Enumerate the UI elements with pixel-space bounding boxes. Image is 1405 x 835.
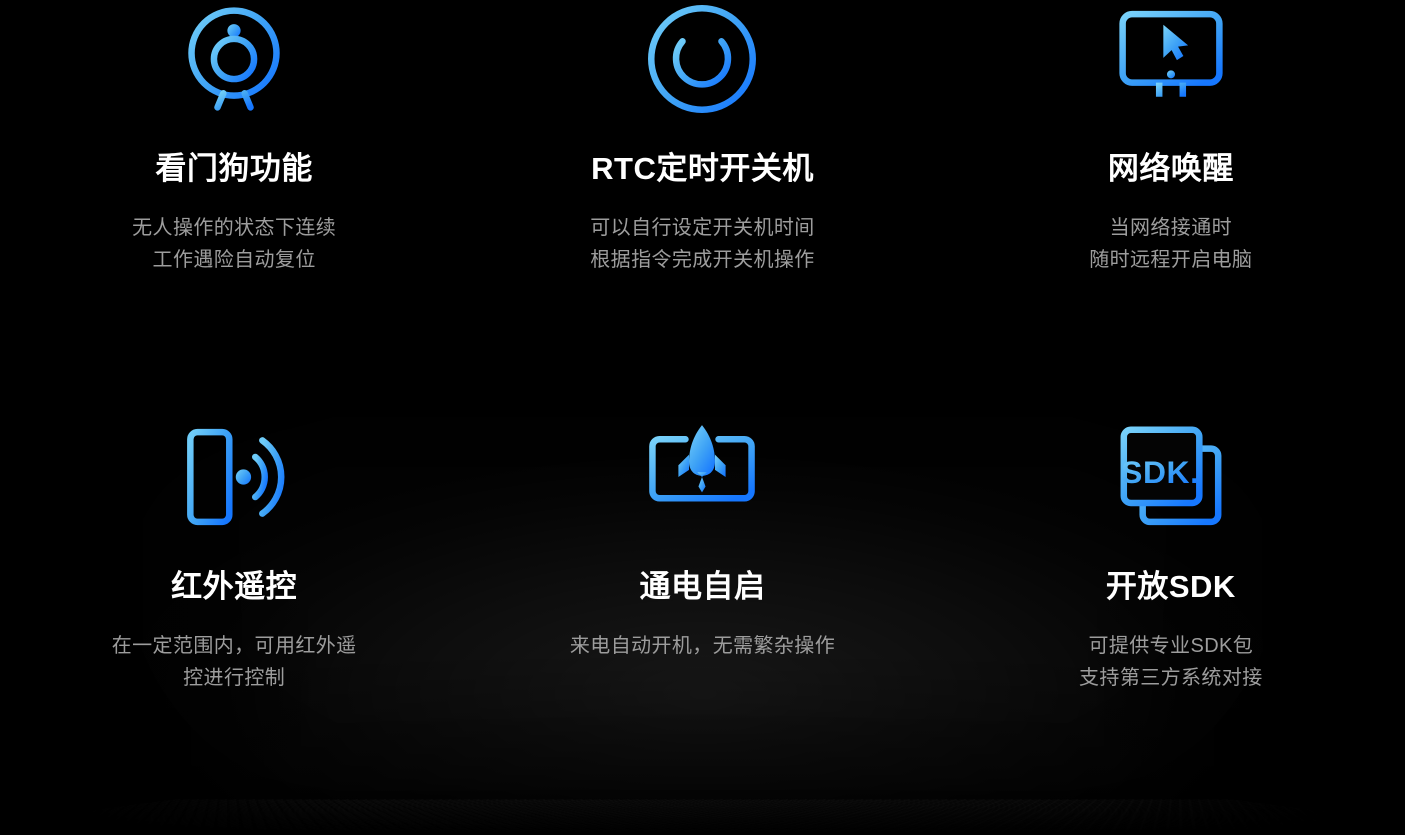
feature-description: 来电自动开机，无需繁杂操作	[570, 630, 835, 662]
feature-title: 红外遥控	[171, 570, 297, 604]
sdk-icon-label: SDK.	[1121, 454, 1199, 490]
feature-title: RTC定时开关机	[591, 152, 814, 186]
feature-description: 无人操作的状态下连续 工作遇险自动复位	[132, 212, 336, 277]
feature-card-rtc-timer[interactable]: RTC定时开关机 可以自行设定开关机时间 根据指令完成开关机操作	[468, 0, 936, 418]
feature-description-line: 支持第三方系统对接	[1079, 662, 1263, 694]
feature-description-line: 来电自动开机，无需繁杂操作	[570, 630, 835, 662]
feature-title: 开放SDK	[1106, 570, 1236, 604]
feature-grid: 看门狗功能 无人操作的状态下连续 工作遇险自动复位 RTC定时开关机 可以自行设…	[0, 0, 1405, 835]
feature-description-line: 当网络接通时	[1089, 212, 1252, 244]
feature-description-line: 随时远程开启电脑	[1089, 244, 1252, 276]
feature-description: 可提供专业SDK包 支持第三方系统对接	[1079, 630, 1263, 695]
feature-card-open-sdk[interactable]: SDK. 开放SDK 可提供专业SDK包 支持第三方系统对接	[937, 418, 1405, 835]
feature-description-line: 工作遇险自动复位	[132, 244, 336, 276]
feature-description-line: 可提供专业SDK包	[1079, 630, 1263, 662]
feature-title: 网络唤醒	[1108, 152, 1234, 186]
feature-description-line: 根据指令完成开关机操作	[590, 244, 814, 276]
feature-card-wake-on-lan[interactable]: 网络唤醒 当网络接通时 随时远程开启电脑	[937, 0, 1405, 418]
monitor-cursor-icon	[1112, 0, 1230, 118]
feature-description: 可以自行设定开关机时间 根据指令完成开关机操作	[590, 212, 814, 277]
feature-description-line: 可以自行设定开关机时间	[590, 212, 814, 244]
feature-title: 看门狗功能	[155, 152, 313, 186]
power-button-icon	[643, 0, 761, 118]
feature-description-line: 控进行控制	[112, 662, 357, 694]
infrared-remote-icon	[175, 418, 293, 536]
feature-card-watchdog[interactable]: 看门狗功能 无人操作的状态下连续 工作遇险自动复位	[0, 0, 468, 418]
sdk-windows-icon: SDK.	[1112, 418, 1230, 536]
feature-card-infrared-remote[interactable]: 红外遥控 在一定范围内，可用红外遥 控进行控制	[0, 418, 468, 835]
feature-description: 在一定范围内，可用红外遥 控进行控制	[112, 630, 357, 695]
feature-description-line: 无人操作的状态下连续	[132, 212, 336, 244]
feature-description: 当网络接通时 随时远程开启电脑	[1089, 212, 1252, 277]
feature-title: 通电自启	[639, 570, 765, 604]
webcam-icon	[175, 0, 293, 118]
feature-description-line: 在一定范围内，可用红外遥	[112, 630, 357, 662]
monitor-rocket-icon	[643, 418, 761, 536]
feature-card-auto-power-on[interactable]: 通电自启 来电自动开机，无需繁杂操作	[468, 418, 936, 835]
